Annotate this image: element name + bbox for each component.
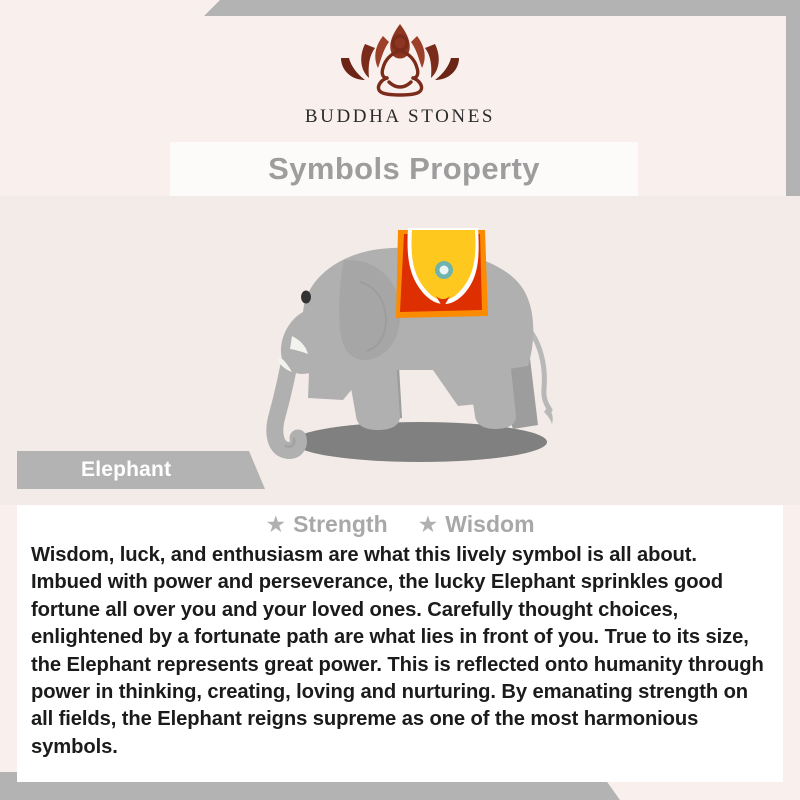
- poster-root: BUDDHA STONES Symbols Property: [0, 0, 800, 800]
- star-icon: ★: [265, 513, 286, 536]
- symbol-description: Wisdom, luck, and enthusiasm are what th…: [31, 542, 769, 761]
- trait-label-strength: Strength: [293, 511, 388, 538]
- trait-strength: ★ Strength: [265, 511, 387, 538]
- brand-name: BUDDHA STONES: [305, 106, 495, 128]
- trait-list: ★ Strength ★ Wisdom: [31, 511, 769, 538]
- buddha-stones-lotus-logo-icon: [315, 16, 485, 102]
- trait-label-wisdom: Wisdom: [445, 511, 534, 538]
- walking-elephant-icon: [248, 220, 593, 485]
- brand-header: BUDDHA STONES: [0, 0, 800, 142]
- title-band: Symbols Property: [170, 142, 638, 196]
- trait-wisdom: ★ Wisdom: [418, 511, 535, 538]
- symbol-name-tag: Elephant: [17, 451, 265, 489]
- description-panel: ★ Strength ★ Wisdom Wisdom, luck, and en…: [17, 505, 783, 782]
- star-icon: ★: [418, 513, 439, 536]
- page-title: Symbols Property: [268, 151, 540, 187]
- symbol-name-label: Elephant: [17, 458, 171, 482]
